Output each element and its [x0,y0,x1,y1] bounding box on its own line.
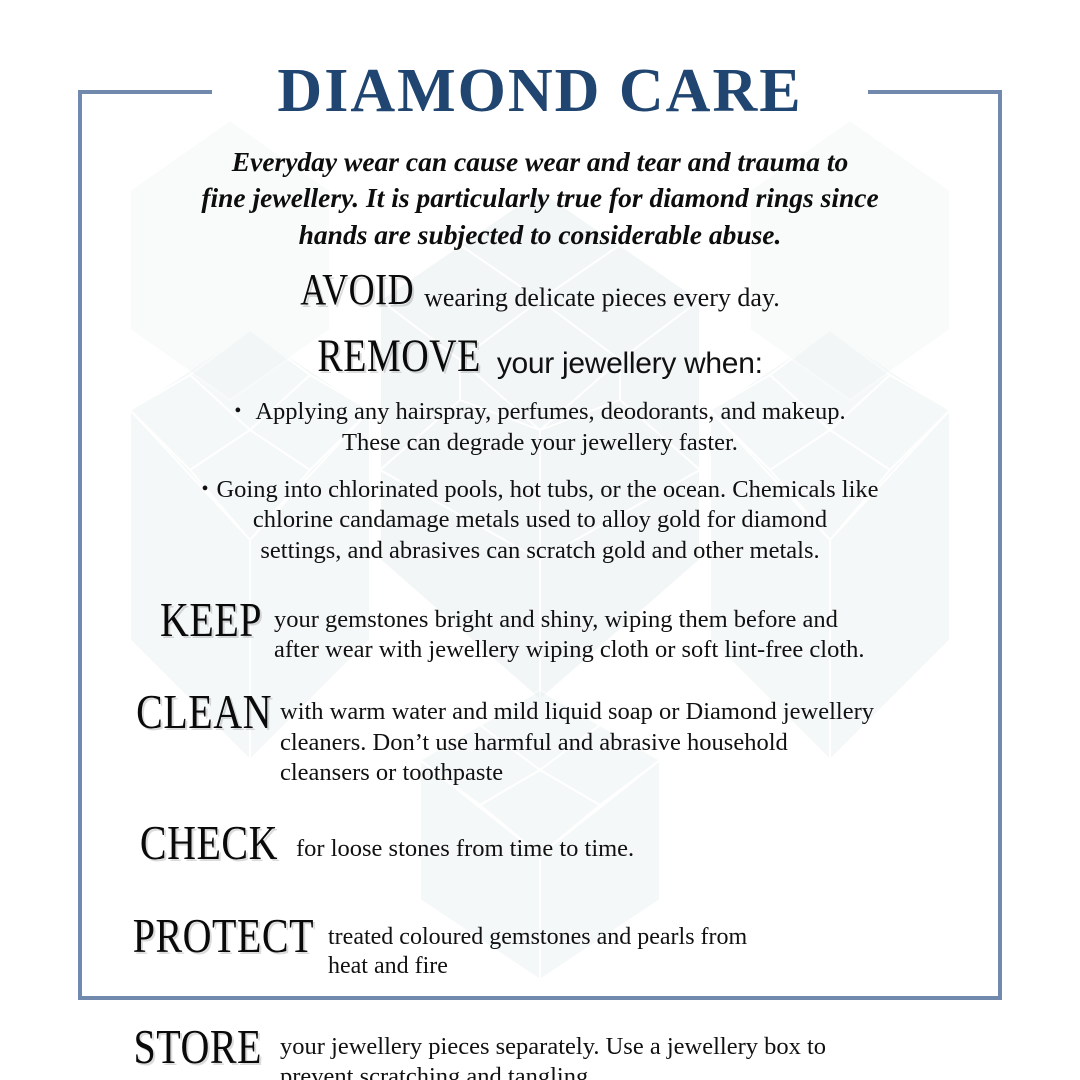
remove-bullet-1: •Applying any hairspray, perfumes, deodo… [82,397,998,459]
intro-line-1: Everyday wear can cause wear and tear an… [116,144,964,180]
check-keyword: CHECK [140,813,278,870]
poster-content: DIAMOND CARE Everyday wear can cause wea… [82,60,998,1080]
intro-line-3: hands are subjected to considerable abus… [116,217,964,253]
avoid-keyword: AVOID [300,264,414,315]
protect-text: treated coloured gemstones and pearls fr… [314,913,998,982]
check-line-1: for loose stones from time to time. [296,834,998,864]
keep-keyword: KEEP [160,591,262,648]
check-section: CHECK for loose stones from time to time… [82,820,998,871]
remove-bullet-2: •Going into chlorinated pools, hot tubs,… [82,475,998,568]
remove-text: your jewellery when: [481,347,763,380]
store-line-2: prevent scratching and tangling. [280,1062,998,1080]
avoid-section: AVOIDwearing delicate pieces every day. [82,273,998,315]
keep-line-2: after wear with jewellery wiping cloth o… [274,635,998,665]
bullet-2-line-1: Going into chlorinated pools, hot tubs, … [216,476,878,503]
keep-text: your gemstones bright and shiny, wiping … [262,597,998,665]
protect-keyword: PROTECT [133,906,314,963]
clean-line-3: cleansers or toothpaste [280,758,998,788]
frame-right-edge [998,90,1002,1000]
check-text: for loose stones from time to time. [278,820,998,864]
clean-line-2: cleaners. Don’t use harmful and abrasive… [280,728,998,758]
keep-keyword-cell: KEEP [82,597,262,648]
keep-line-1: your gemstones bright and shiny, wiping … [274,605,998,635]
protect-line-2: heat and fire [328,952,998,982]
store-line-1: your jewellery pieces separately. Use a … [280,1032,998,1062]
keep-section: KEEP your gemstones bright and shiny, wi… [82,597,998,665]
intro-paragraph: Everyday wear can cause wear and tear an… [116,144,964,253]
remove-keyword: REMOVE [317,329,480,383]
store-text: your jewellery pieces separately. Use a … [262,1024,998,1080]
store-keyword: STORE [134,1018,262,1075]
bullet-marker-icon: • [201,478,216,500]
bullet-1-line-2: These can degrade your jewellery faster. [118,428,962,459]
store-keyword-cell: STORE [82,1024,262,1075]
protect-keyword-cell: PROTECT [82,913,314,964]
bullet-1-line-1: Applying any hairspray, perfumes, deodor… [255,398,845,425]
avoid-text: wearing delicate pieces every day. [414,283,780,312]
intro-line-2: fine jewellery. It is particularly true … [116,180,964,216]
protect-line-1: treated coloured gemstones and pearls fr… [328,923,998,953]
bullet-marker-icon: • [234,400,255,422]
clean-section: CLEAN with warm water and mild liquid so… [82,689,998,787]
bullet-2-line-3: settings, and abrasives can scratch gold… [104,536,976,567]
store-section: STORE your jewellery pieces separately. … [82,1024,998,1080]
poster-canvas: DIAMOND CARE Everyday wear can cause wea… [0,0,1080,1080]
clean-keyword-cell: CLEAN [82,689,272,740]
clean-line-1: with warm water and mild liquid soap or … [280,697,998,727]
clean-text: with warm water and mild liquid soap or … [272,689,998,787]
clean-keyword: CLEAN [136,683,272,740]
bullet-2-line-2: chlorine candamage metals used to alloy … [104,505,976,536]
check-keyword-cell: CHECK [82,820,278,871]
page-title: DIAMOND CARE [82,60,998,124]
protect-section: PROTECT treated coloured gemstones and p… [82,913,998,982]
remove-section: REMOVEyour jewellery when: [82,339,998,383]
